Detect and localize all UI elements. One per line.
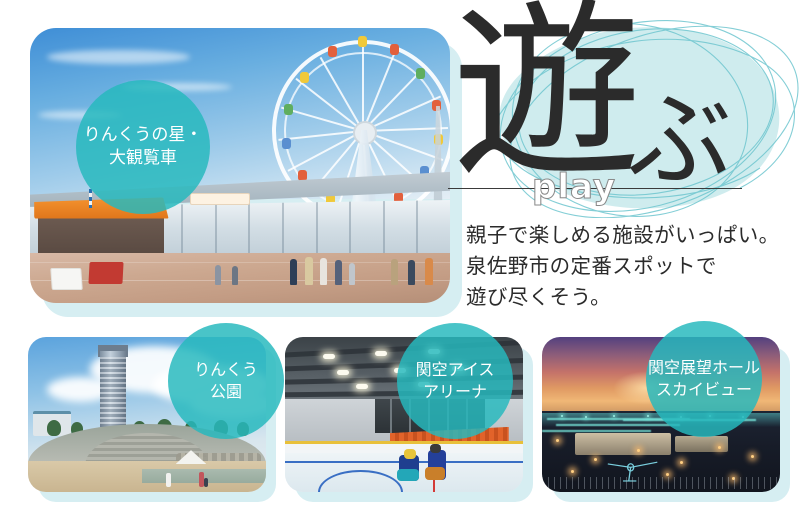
headline-kana: ぶ (628, 88, 732, 192)
description-text: 親子で楽しめる施設がいっぱい。 泉佐野市の定番スポットで 遊び尽くそう。 (466, 220, 796, 313)
thumb-badge-line1: りんくう (194, 359, 258, 381)
headline-romaji: play (532, 167, 616, 207)
hero-photo-rinku-star[interactable]: りんくうの星・ 大観覧車 (30, 28, 450, 303)
promo-banner: りんくうの星・ 大観覧車 遊 ぶ play 親子で楽しめる施設がいっぱい。 泉佐… (0, 0, 800, 515)
thumbnail-rinku-park[interactable]: りんくう 公園 (28, 337, 266, 492)
thumb-badge-line2: アリーナ (423, 381, 487, 403)
thumb-badge-line2: 公園 (210, 381, 242, 403)
thumbnail-kanku-ice-arena[interactable]: 関空アイス アリーナ (285, 337, 523, 492)
description-line-1: 親子で楽しめる施設がいっぱい。 (466, 220, 796, 251)
hero-badge-line1: りんくうの星・ (84, 124, 203, 147)
description-line-3: 遊び尽くそう。 (466, 282, 796, 313)
thumb-label-badge: りんくう 公園 (168, 323, 284, 439)
description-line-2: 泉佐野市の定番スポットで (466, 251, 796, 282)
thumb-badge-line1: 関空アイス (416, 359, 495, 381)
hero-badge-line2: 大観覧車 (109, 147, 177, 170)
thumb-badge-line1: 関空展望ホール (648, 357, 760, 379)
hero-label-badge: りんくうの星・ 大観覧車 (76, 80, 210, 214)
headline-kanji: 遊 (452, 0, 642, 188)
thumb-label-badge: 関空展望ホール スカイビュー (646, 321, 762, 437)
thumb-label-badge: 関空アイス アリーナ (397, 323, 513, 439)
thumbnail-kanku-skyview[interactable]: 関空展望ホール スカイビュー (542, 337, 780, 492)
thumb-badge-line2: スカイビュー (656, 379, 752, 401)
